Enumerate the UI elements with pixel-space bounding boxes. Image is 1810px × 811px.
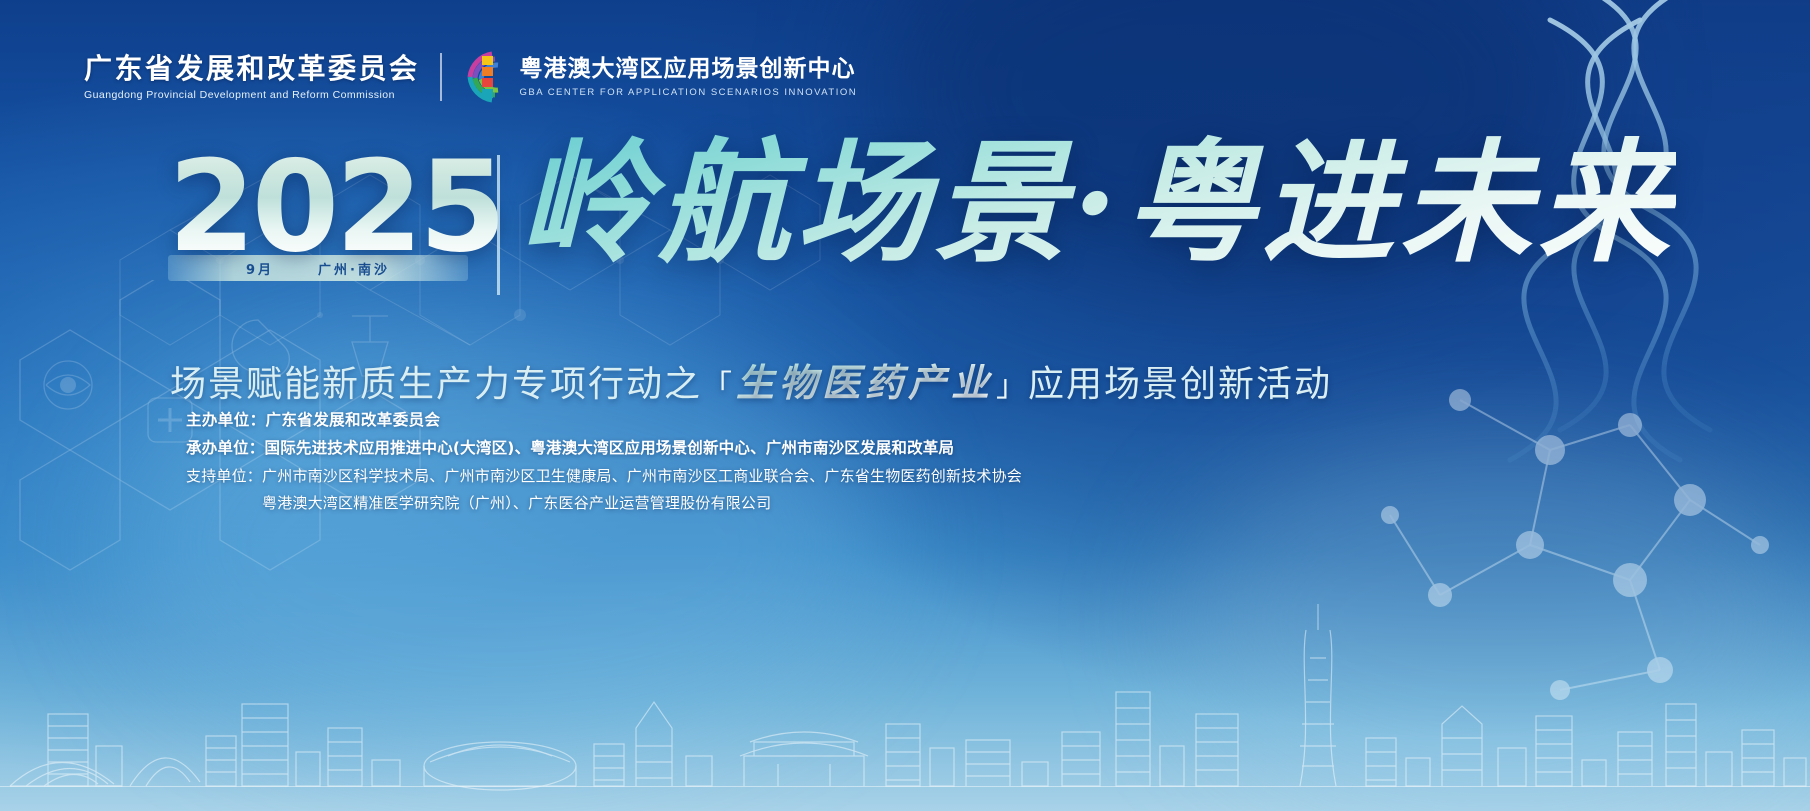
host-line: 主办单位：广东省发展和改革委员会 <box>186 413 1022 429</box>
support-line-2: 粤港澳大湾区精准医学研究院（广州）、广东医谷产业运营管理股份有限公司 <box>186 496 1022 511</box>
skyline-baseline <box>0 786 1810 787</box>
support-line-1: 支持单位：广州市南沙区科学技术局、广州市南沙区卫生健康局、广州市南沙区工商业联合… <box>186 469 1022 484</box>
org-right-name-cn: 粤港澳大湾区应用场景创新中心 <box>520 56 858 82</box>
org-left-block: 广东省发展和改革委员会 Guangdong Provincial Develop… <box>84 53 420 101</box>
logo-divider <box>440 53 442 101</box>
org-right-name-en: GBA CENTER FOR APPLICATION SCENARIOS INN… <box>520 87 858 98</box>
org-left-name-en: Guangdong Provincial Development and Ref… <box>84 89 420 101</box>
subtitle-bracket-open: 「 <box>702 361 734 405</box>
rainbow-arc-icon <box>462 48 508 106</box>
subtitle: 场景赋能新质生产力专项行动之 「 生物医药产业 」 应用场景创新活动 <box>170 352 1332 407</box>
header-logo-bar: 广东省发展和改革委员会 Guangdong Provincial Develop… <box>84 48 857 106</box>
credits-block: 主办单位：广东省发展和改革委员会 承办单位：国际先进技术应用推进中心(大湾区)、… <box>186 413 1022 511</box>
org-right-block: 粤港澳大湾区应用场景创新中心 GBA CENTER FOR APPLICATIO… <box>520 56 858 97</box>
subtitle-prefix: 场景赋能新质生产力专项行动之 <box>170 355 702 407</box>
year-block: 2025 9月 广州·南沙 <box>168 150 503 281</box>
year-text: 2025 <box>168 150 503 263</box>
city-skyline-icon <box>0 596 1810 811</box>
event-banner: 广东省发展和改革委员会 Guangdong Provincial Develop… <box>0 0 1810 811</box>
subtitle-highlight: 生物医药产业 <box>734 352 996 407</box>
title-divider <box>497 155 500 295</box>
subtitle-bracket-close: 」 <box>996 361 1028 405</box>
organizer-line: 承办单位：国际先进技术应用推进中心(大湾区)、粤港澳大湾区应用场景创新中心、广州… <box>186 441 1022 457</box>
subtitle-suffix: 应用场景创新活动 <box>1028 355 1332 407</box>
org-left-name-cn: 广东省发展和改革委员会 <box>84 53 420 85</box>
main-title-calligraphy: 岭航场景·粤进未来 <box>520 108 1676 299</box>
